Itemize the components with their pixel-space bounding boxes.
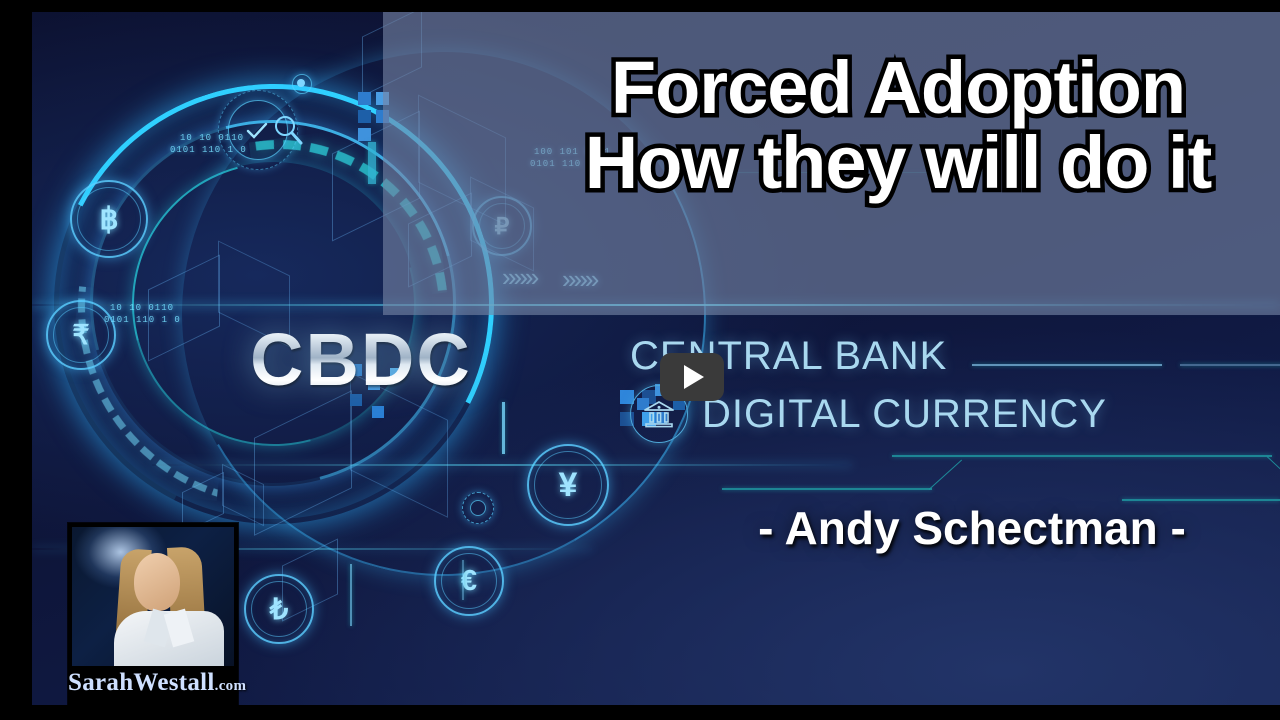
binary-text: 0101 110 1 0: [170, 144, 247, 156]
magnifier-icon: [270, 112, 306, 148]
binary-text: 0101 110 1 0: [104, 314, 181, 326]
checkmark-icon: [242, 116, 272, 146]
rupee-symbol: ₹: [72, 320, 89, 351]
euro-coin: €: [434, 546, 504, 616]
vertical-accent: [462, 560, 464, 600]
guest-name: - Andy Schectman -: [632, 501, 1280, 555]
cbdc-expansion-block: CENTRAL BANK DIGITAL CURRENCY: [630, 334, 1280, 443]
vertical-accent: [350, 564, 352, 626]
cube-outline: [282, 538, 338, 621]
video-player-stage: ฿ ₹ ₽ ¥ € ₺: [0, 0, 1280, 720]
binary-text: 10 10 0110: [110, 302, 174, 314]
checkmark-circle-icon: [228, 100, 288, 160]
cbdc-wordmark: CBDC: [250, 317, 472, 402]
euro-symbol: €: [461, 565, 477, 598]
title-line-1: Forced Adoption: [498, 50, 1280, 125]
cube-outline: [148, 254, 220, 361]
circuit-trace: [892, 455, 1272, 457]
rupee-coin: ₹: [46, 300, 116, 370]
host-portrait-photo: [72, 527, 234, 666]
target-inner-icon: [470, 500, 486, 516]
cube-outline: [222, 464, 264, 526]
video-frame[interactable]: ฿ ₹ ₽ ¥ € ₺: [32, 12, 1280, 705]
baht-coin: ฿: [70, 180, 148, 258]
lira-symbol: ₺: [270, 592, 288, 627]
yen-symbol: ¥: [559, 466, 578, 505]
circuit-trace-diagonal: [1267, 456, 1280, 498]
baht-symbol: ฿: [99, 202, 118, 237]
video-title: Forced Adoption How they will do it: [498, 50, 1280, 201]
lira-coin: ₺: [244, 574, 314, 644]
circuit-trace-diagonal: [929, 460, 962, 490]
target-circle-icon: [462, 492, 494, 524]
yen-coin: ¥: [527, 444, 609, 526]
title-line-2: How they will do it: [498, 125, 1280, 200]
watermark-url: SarahWestall.com: [68, 669, 238, 697]
vertical-accent: [502, 402, 505, 454]
channel-watermark-badge[interactable]: SarahWestall.com: [68, 523, 238, 705]
dashed-ring-icon: [218, 90, 298, 170]
central-bank-text: CENTRAL BANK: [630, 334, 1280, 379]
watermark-name: SarahWestall: [68, 669, 215, 696]
digital-currency-row: DIGITAL CURRENCY: [630, 385, 1280, 443]
digital-currency-text: DIGITAL CURRENCY: [702, 392, 1107, 437]
vertical-accent: [368, 142, 376, 184]
circuit-trace: [722, 488, 932, 490]
play-triangle-icon: [684, 365, 704, 389]
play-button[interactable]: [660, 353, 724, 401]
target-dot-icon: [297, 79, 305, 87]
target-circle-icon: [292, 74, 312, 94]
cube-outline: [254, 390, 352, 536]
binary-text: 10 10 0110: [180, 132, 244, 144]
glow-divider: [152, 464, 852, 466]
watermark-tld: .com: [215, 678, 247, 694]
